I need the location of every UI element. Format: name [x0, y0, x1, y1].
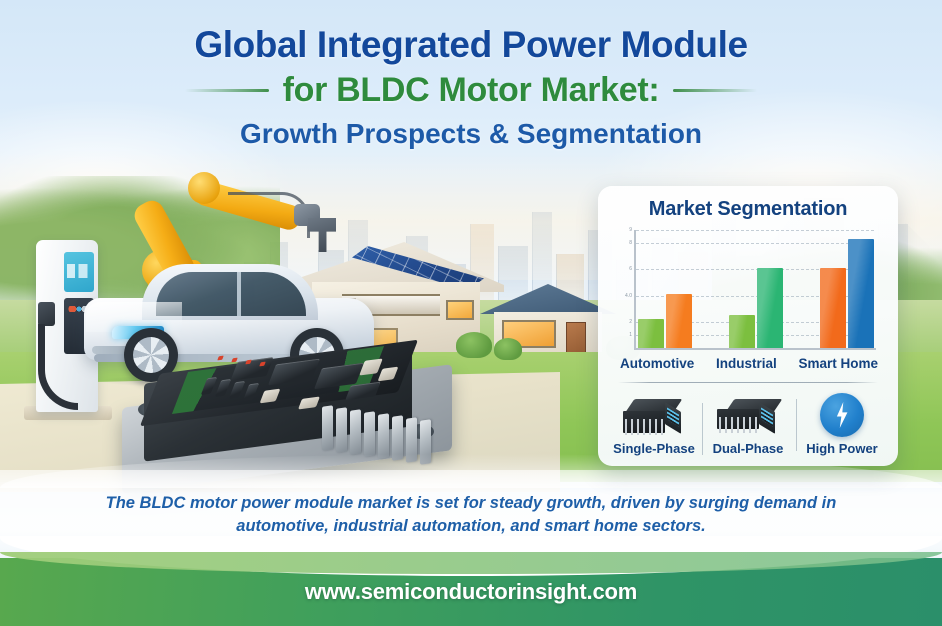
category-label: Smart Home: [798, 356, 878, 371]
bar: [848, 239, 874, 348]
bar: [757, 268, 783, 348]
caption-line-2: automotive, industrial automation, and s…: [236, 517, 705, 535]
footer-band: www.semiconductorinsight.com: [0, 558, 942, 626]
bar-chart-plot: 9864.021: [620, 230, 878, 352]
category-label: Industrial: [716, 356, 777, 371]
market-segmentation-card: Market Segmentation 9864.021 AutomotiveI…: [598, 186, 898, 466]
bar-groups: [638, 230, 874, 348]
feature-label: Single-Phase: [610, 441, 698, 456]
bar-group: [638, 294, 692, 348]
feature-dual-phase[interactable]: Dual-Phase: [704, 397, 792, 456]
title-line-2-row: for BLDC Motor Market:: [0, 71, 942, 110]
y-tick-label: 4.0: [618, 293, 632, 299]
y-tick-label: 2: [618, 319, 632, 325]
card-divider: [618, 382, 878, 383]
feature-label: High Power: [798, 441, 886, 456]
feature-label: Dual-Phase: [704, 441, 792, 456]
feature-high-power[interactable]: High Power: [798, 393, 886, 456]
lightning-bolt-icon: [820, 393, 864, 437]
title-line-3: Growth Prospects & Segmentation: [0, 118, 942, 150]
caption-line-1: The BLDC motor power module market is se…: [106, 494, 837, 512]
website-url[interactable]: www.semiconductorinsight.com: [305, 579, 637, 605]
power-module-icon: [717, 397, 779, 437]
bar: [820, 268, 846, 348]
category-labels: AutomotiveIndustrialSmart Home: [620, 356, 878, 371]
bar-group: [729, 268, 783, 348]
feature-row: Single-Phase Dual-Phase High Power: [610, 390, 886, 456]
feature-single-phase[interactable]: Single-Phase: [610, 397, 698, 456]
infographic-header: Global Integrated Power Module for BLDC …: [0, 0, 942, 150]
chart-title: Market Segmentation: [598, 186, 898, 221]
title-line-1: Global Integrated Power Module: [0, 24, 942, 66]
y-tick-label: 1: [618, 332, 632, 338]
caption-text: The BLDC motor power module market is se…: [60, 492, 882, 539]
y-tick-label: 8: [618, 240, 632, 246]
bar: [729, 315, 755, 348]
title-line-2: for BLDC Motor Market:: [283, 71, 660, 110]
bar-group: [820, 239, 874, 348]
robot-gripper-icon: [308, 218, 336, 252]
category-label: Automotive: [620, 356, 694, 371]
x-axis: [634, 348, 876, 350]
y-axis: [634, 230, 636, 348]
bar: [638, 319, 664, 348]
power-module-icon: [623, 397, 685, 437]
title-rule-right: [673, 89, 757, 92]
bar: [666, 294, 692, 348]
title-rule-left: [185, 89, 269, 92]
y-tick-label: 9: [618, 227, 632, 233]
y-tick-label: 6: [618, 266, 632, 272]
